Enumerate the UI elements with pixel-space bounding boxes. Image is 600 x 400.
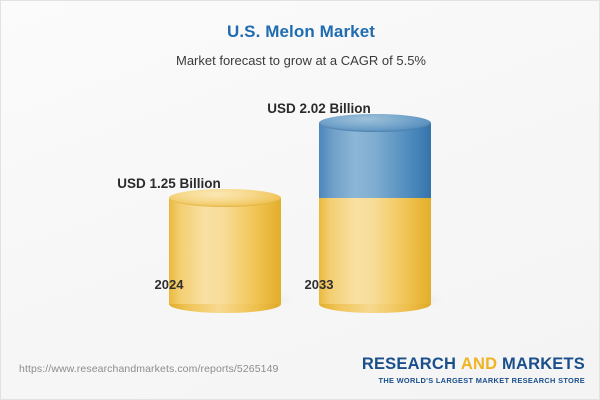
chart-card: U.S. Melon Market Market forecast to gro… (0, 0, 600, 400)
cylinder-body (319, 198, 431, 304)
cylinder-top-cap (319, 114, 431, 132)
logo-word-and: AND (461, 355, 497, 373)
cylinder-body (169, 198, 281, 304)
report-url[interactable]: https://www.researchandmarkets.com/repor… (19, 363, 278, 375)
cylinder-bar-2024[interactable] (169, 198, 281, 304)
logo-word-markets: MARKETS (502, 355, 585, 373)
x-axis-label-2033: 2033 (305, 277, 334, 292)
logo-word-research: RESEARCH (362, 355, 456, 373)
plot-area: USD 1.25 Billion 2024 USD 2.02 Billion (1, 1, 600, 346)
bar-segment-base-2033 (319, 198, 431, 304)
bar-segment-base-2024 (169, 198, 281, 304)
logo-wordmark: RESEARCH AND MARKETS (362, 355, 585, 374)
chart-footer: https://www.researchandmarkets.com/repor… (1, 347, 600, 399)
cylinder-top-cap (169, 189, 281, 207)
cylinder-bar-2033[interactable] (319, 123, 431, 304)
bar-segment-growth-2033 (319, 123, 431, 198)
cylinder-body (319, 123, 431, 198)
logo-tagline: THE WORLD'S LARGEST MARKET RESEARCH STOR… (362, 376, 585, 385)
research-and-markets-logo[interactable]: RESEARCH AND MARKETS THE WORLD'S LARGEST… (362, 355, 585, 385)
x-axis-label-2024: 2024 (155, 277, 184, 292)
